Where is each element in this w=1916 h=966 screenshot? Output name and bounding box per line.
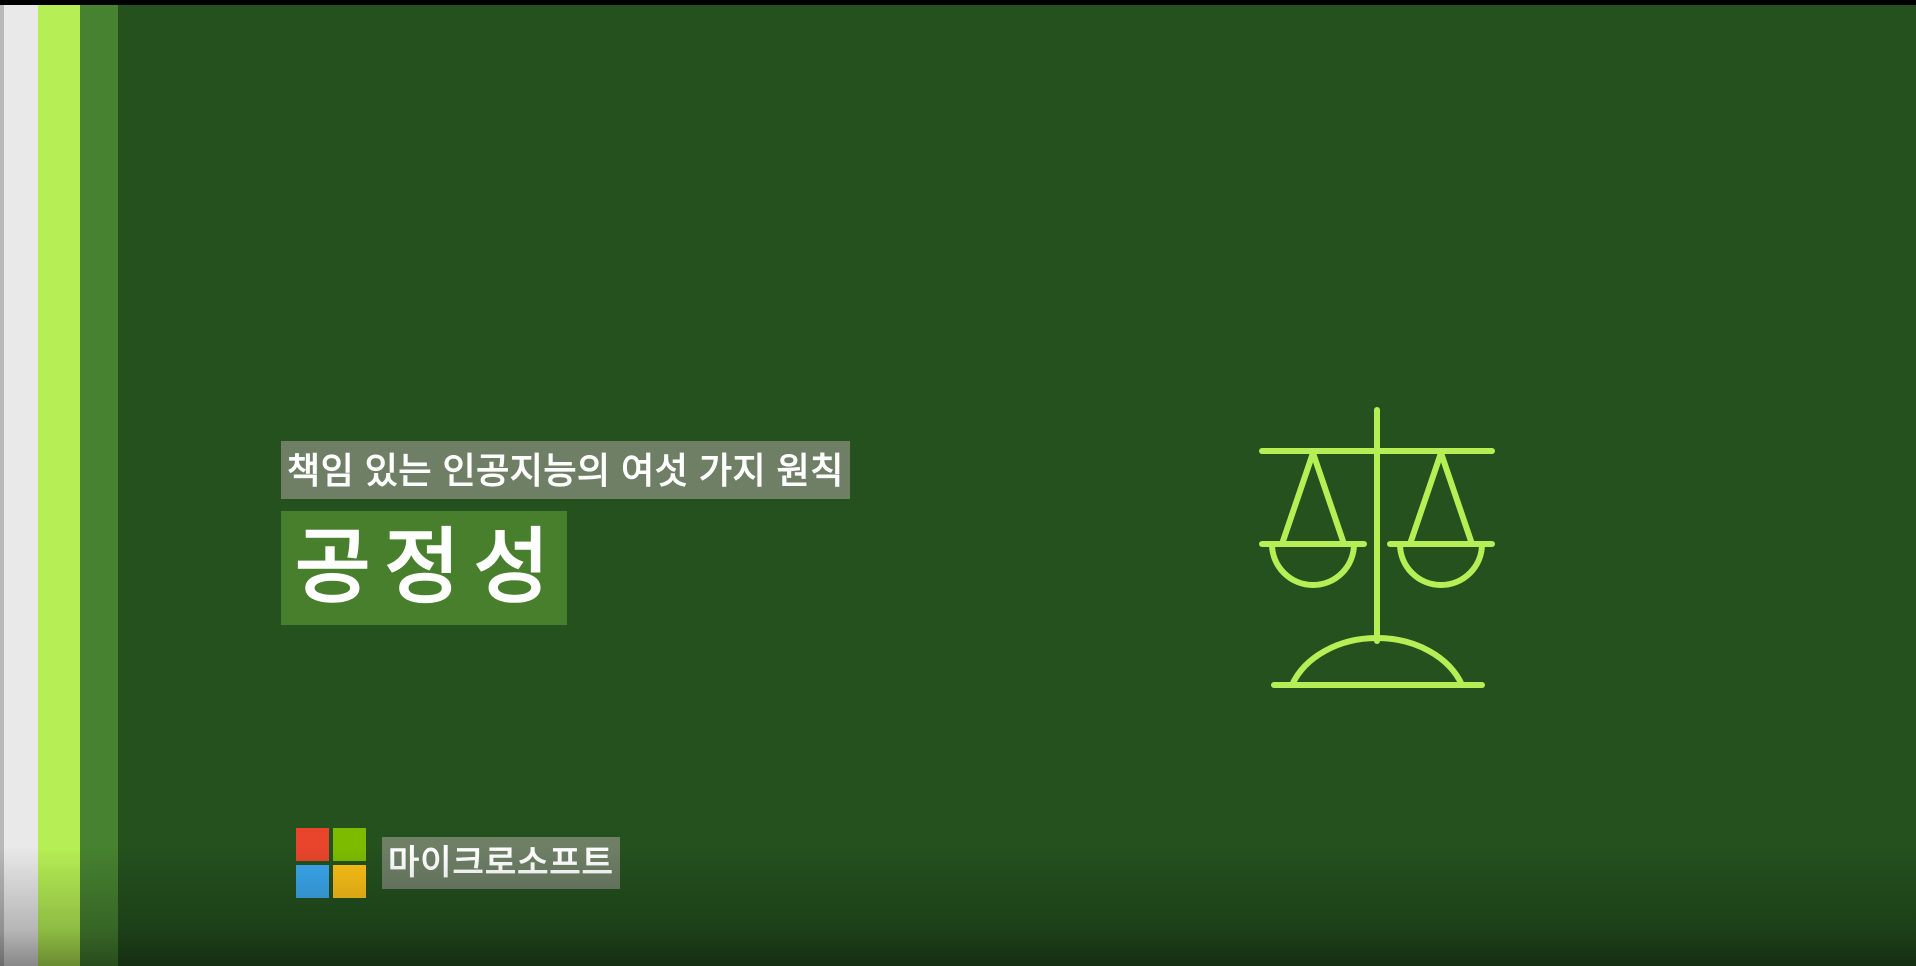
subtitle-row: 책임 있는 인공지능의 여섯 가지 원칙	[281, 441, 850, 499]
headline-block: 책임 있는 인공지능의 여섯 가지 원칙 공정성	[281, 441, 850, 625]
brand-row: 마이크로소프트	[296, 828, 620, 898]
top-letterbox-bar	[0, 0, 1916, 5]
bottom-vignette	[0, 846, 1916, 966]
brand-name-label: 마이크로소프트	[382, 837, 620, 889]
logo-tile-bottom-right	[333, 865, 366, 898]
accent-stripe-lime	[38, 0, 80, 966]
logo-tile-top-right	[333, 828, 366, 861]
logo-tile-top-left	[296, 828, 329, 861]
balance-scale-icon	[1232, 398, 1522, 698]
accent-stripe-mid-green	[80, 0, 118, 966]
logo-tile-bottom-left	[296, 865, 329, 898]
title-row: 공정성	[281, 511, 850, 625]
slide-canvas: 책임 있는 인공지능의 여섯 가지 원칙 공정성 마이크로소프트	[0, 0, 1916, 966]
accent-stripe-white	[4, 0, 38, 966]
microsoft-logo-icon	[296, 828, 366, 898]
slide-title: 공정성	[281, 511, 567, 625]
slide-subtitle: 책임 있는 인공지능의 여섯 가지 원칙	[281, 441, 850, 499]
